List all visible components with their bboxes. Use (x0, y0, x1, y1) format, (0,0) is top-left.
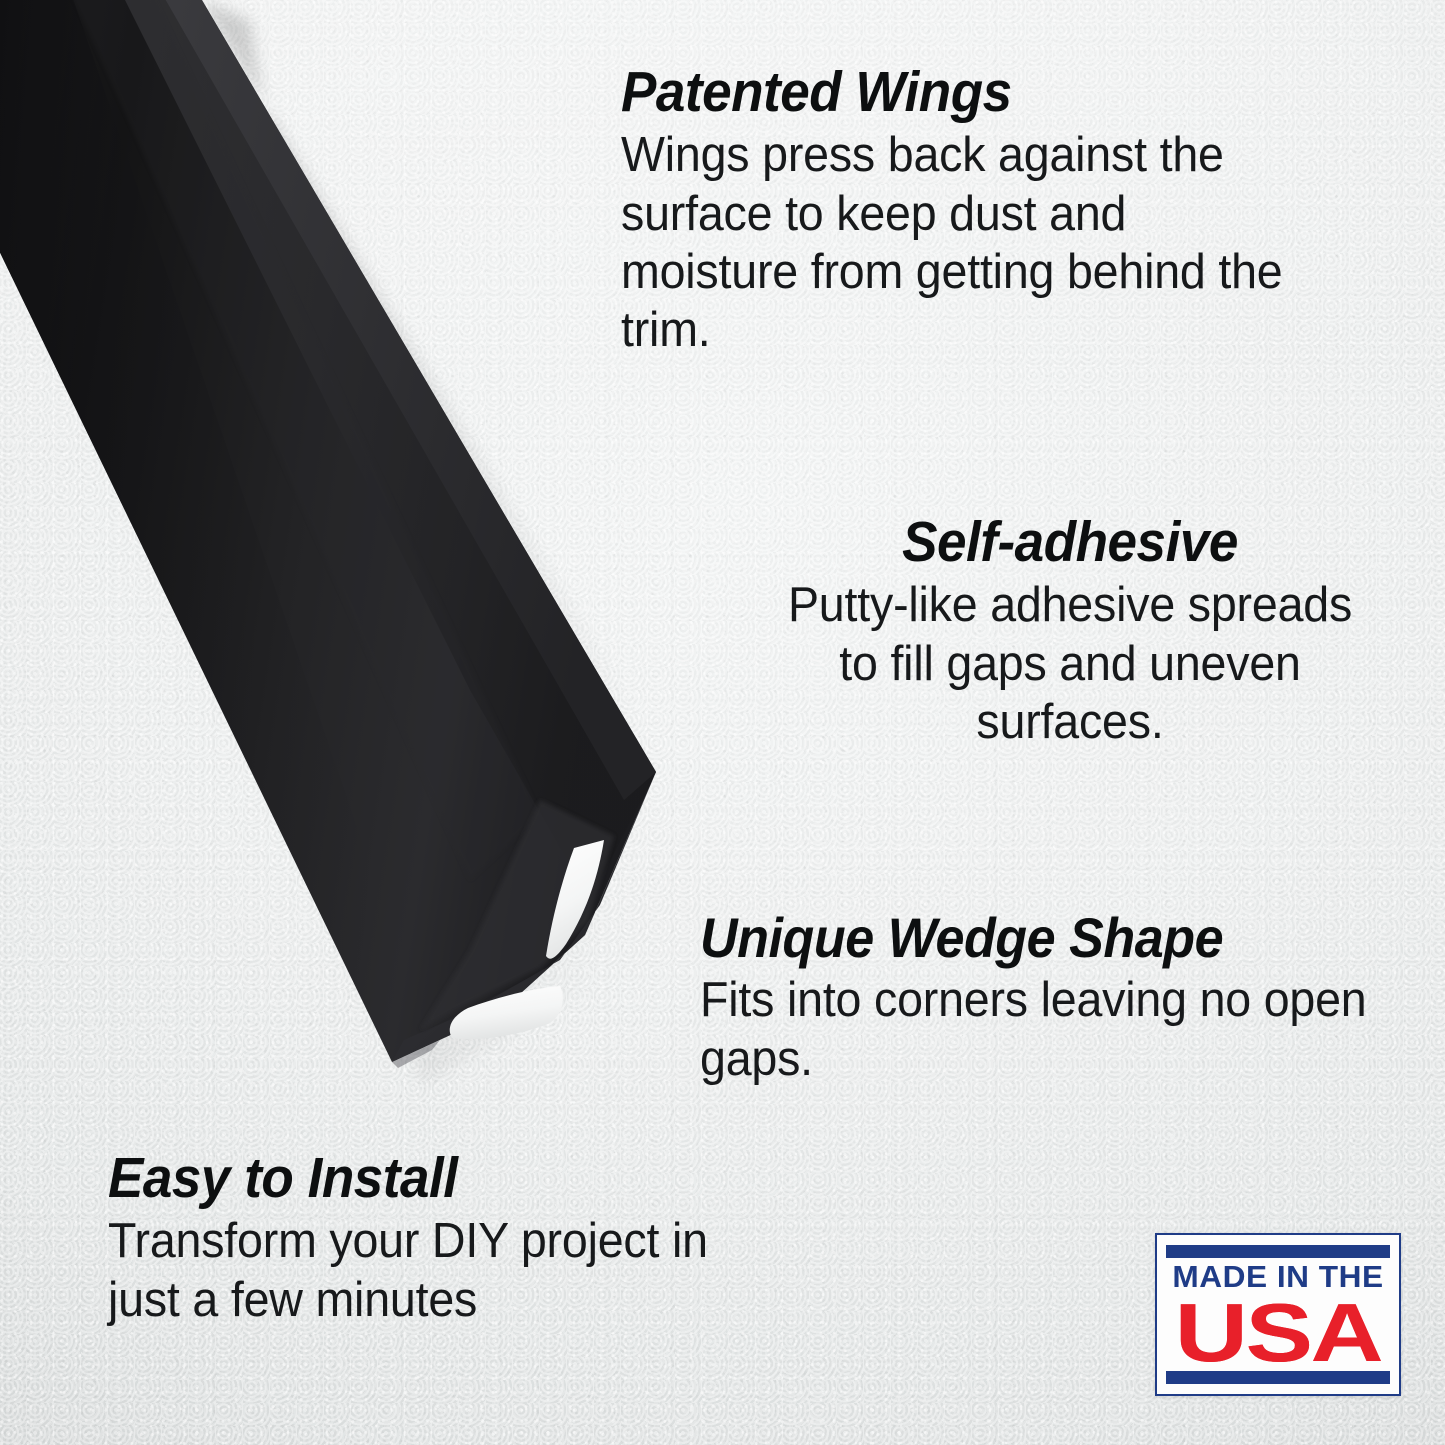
feature-heading-easy-to-install: Easy to Install (108, 1148, 778, 1208)
badge-usa-text: USA (1155, 1291, 1401, 1374)
feature-heading-self-adhesive: Self-adhesive (782, 512, 1359, 572)
feature-easy-to-install: Easy to Install Transform your DIY proje… (108, 1148, 828, 1329)
infographic-canvas: Patented Wings Wings press back against … (0, 0, 1445, 1445)
made-in-usa-badge: MADE IN THE USA (1155, 1233, 1401, 1396)
feature-heading-unique-wedge-shape: Unique Wedge Shape (700, 908, 1370, 967)
feature-body-self-adhesive: Putty-like adhesive spreads to fill gaps… (776, 576, 1365, 751)
feature-patented-wings: Patented Wings Wings press back against … (621, 62, 1321, 360)
feature-body-easy-to-install: Transform your DIY project in just a few… (108, 1212, 792, 1329)
feature-unique-wedge-shape: Unique Wedge Shape Fits into corners lea… (700, 908, 1420, 1088)
feature-self-adhesive: Self-adhesive Putty-like adhesive spread… (760, 512, 1380, 751)
badge-bar-top (1166, 1245, 1390, 1258)
feature-heading-patented-wings: Patented Wings (621, 62, 1272, 122)
feature-body-patented-wings: Wings press back against the surface to … (621, 126, 1286, 359)
feature-body-unique-wedge-shape: Fits into corners leaving no open gaps. (700, 971, 1384, 1088)
